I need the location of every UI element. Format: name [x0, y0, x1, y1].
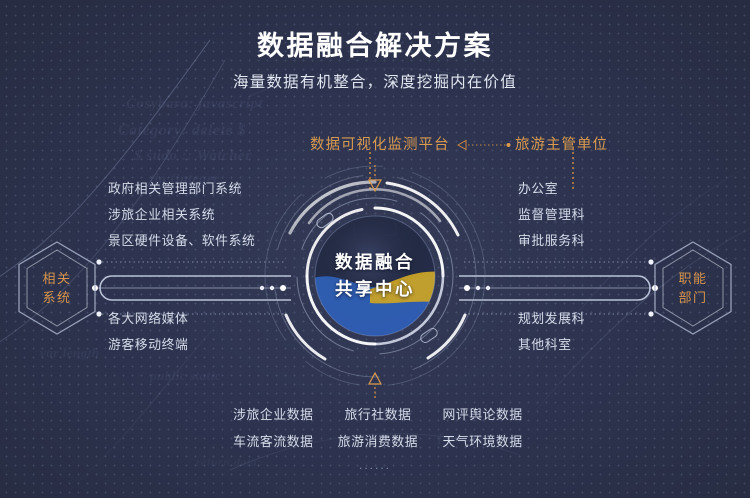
watermark-text: Cosybara: javascript [126, 96, 263, 113]
watermark-text: Category: delete $ [118, 122, 246, 140]
column-right-top: 办公室 监督管理科 审批服务科 [518, 176, 585, 254]
infographic-canvas: Cosybara: javascript Category: delete $ … [0, 0, 750, 498]
hexagon-related-systems[interactable]: 相关 系统 [14, 239, 100, 337]
column-right-bottom: 规划发展科 其他科室 [518, 306, 585, 358]
data-cell: 涉旅企业数据 [228, 404, 319, 423]
hexagon-left-text: 相关 系统 [14, 239, 100, 337]
hexagon-left-line1: 相关 [42, 269, 71, 288]
column-left-bottom: 各大网络媒体 游客移动终端 [108, 306, 188, 358]
list-item: 审批服务科 [518, 228, 585, 254]
page-subtitle: 海量数据有机整合，深度挖掘内在价值 [0, 70, 750, 92]
hexagon-left-line2: 系统 [42, 288, 71, 307]
watermark-text: $ sudo :: Watcher [134, 148, 252, 165]
data-cell: 网评舆论数据 [437, 404, 528, 423]
list-item: 各大网络媒体 [108, 306, 188, 332]
list-item: 游客移动终端 [108, 332, 188, 358]
watermark-text: public static [150, 368, 221, 384]
core-line2: 共享中心 [262, 276, 488, 303]
list-item: 其他科室 [518, 332, 585, 358]
core-line1: 数据融合 [262, 249, 488, 276]
arrow-up-icon [367, 368, 383, 400]
list-item: 涉旅企业相关系统 [108, 202, 255, 228]
dotted-arrow-left-icon [448, 138, 512, 152]
ellipsis-text: ...... [0, 458, 750, 472]
data-cell: 旅行社数据 [333, 404, 424, 423]
label-visualization-platform: 数据可视化监测平台 [310, 133, 450, 154]
data-cell: 车流客流数据 [228, 431, 319, 450]
hexagon-right-line1: 职能 [678, 269, 707, 288]
list-item: 办公室 [518, 176, 585, 202]
page-title: 数据融合解决方案 [0, 24, 750, 63]
hexagon-functional-departments[interactable]: 职能 部门 [650, 239, 736, 337]
column-left-top: 政府相关管理部门系统 涉旅企业相关系统 景区硬件设备、软件系统 [108, 176, 255, 254]
list-item: 监督管理科 [518, 202, 585, 228]
core-label: 数据融合 共享中心 [262, 249, 488, 303]
hexagon-right-text: 职能 部门 [650, 239, 736, 337]
list-item: 政府相关管理部门系统 [108, 176, 255, 202]
arrow-down-icon [367, 165, 383, 197]
data-cell: 旅游消费数据 [333, 431, 424, 450]
data-cell: 天气环境数据 [437, 431, 528, 450]
list-item: 景区硬件设备、软件系统 [108, 228, 255, 254]
hexagon-right-line2: 部门 [678, 288, 707, 307]
list-item: 规划发展科 [518, 306, 585, 332]
label-tourism-authority: 旅游主管单位 [515, 133, 608, 154]
watermark-text: var length [40, 345, 100, 361]
bottom-data-grid: 涉旅企业数据 旅行社数据 网评舆论数据 车流客流数据 旅游消费数据 天气环境数据 [228, 404, 528, 450]
